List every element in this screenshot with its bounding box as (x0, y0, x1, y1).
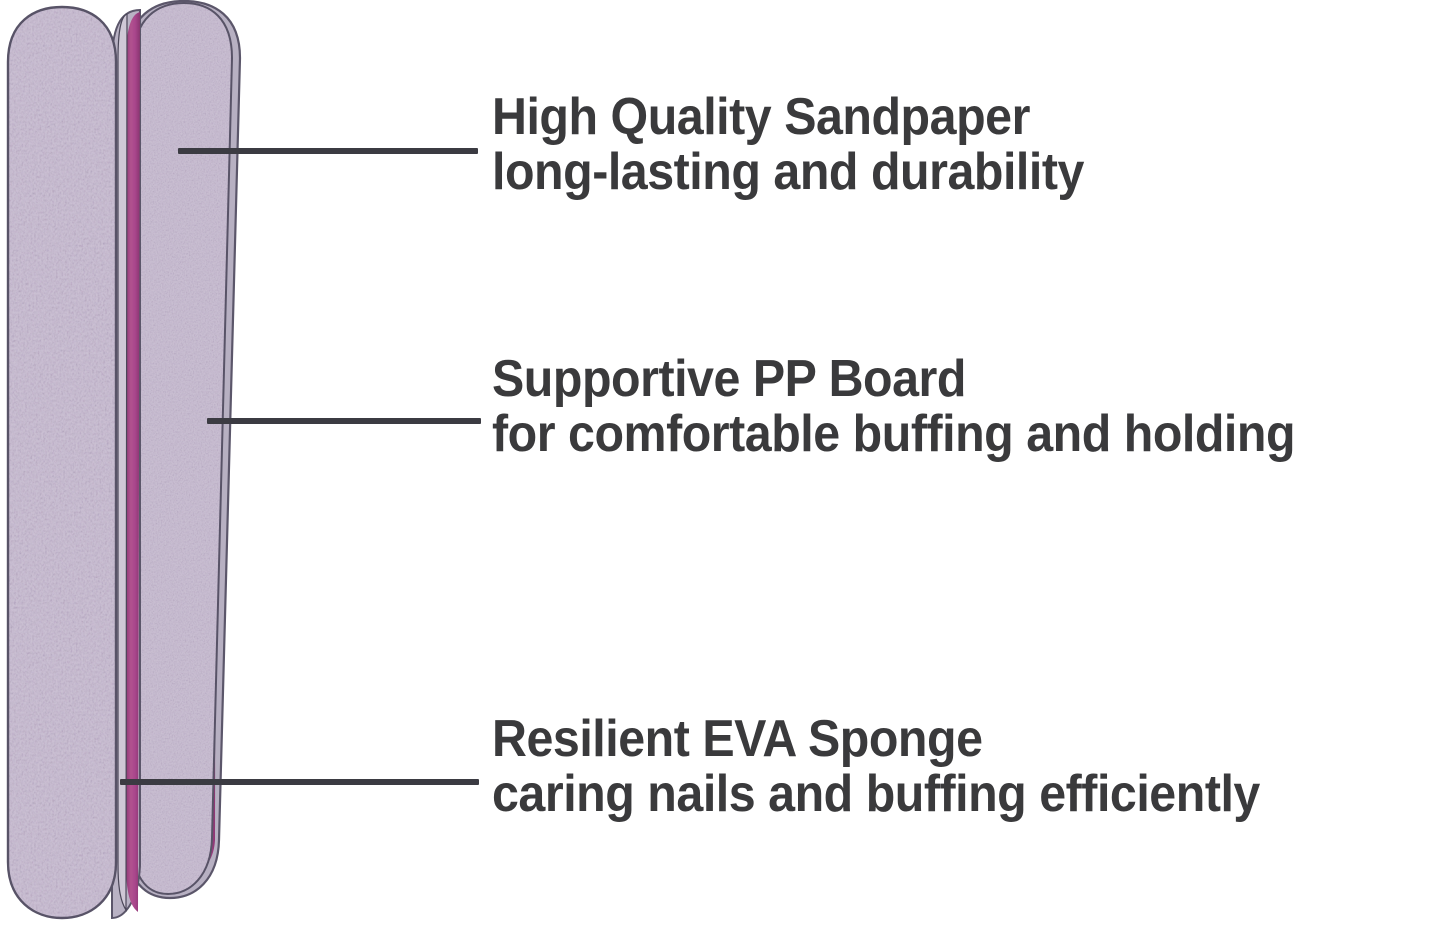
left-file-eva-stripe (126, 12, 140, 912)
callout-pp-board-title: Supportive PP Board (492, 352, 1295, 407)
leader-line-eva-sponge (120, 779, 479, 785)
leader-line-sandpaper (178, 148, 478, 154)
nail-file-left (0, 0, 140, 932)
callout-pp-board-subtitle: for comfortable buffing and holding (492, 407, 1295, 462)
product-illustration (0, 0, 260, 932)
callout-eva-sponge: Resilient EVA Sponge caring nails and bu… (492, 712, 1260, 822)
callout-pp-board: Supportive PP Board for comfortable buff… (492, 352, 1295, 462)
callout-sandpaper-subtitle: long-lasting and durability (492, 145, 1084, 200)
callout-eva-sponge-subtitle: caring nails and buffing efficiently (492, 767, 1260, 822)
infographic-canvas: High Quality Sandpaper long-lasting and … (0, 0, 1454, 932)
callout-sandpaper: High Quality Sandpaper long-lasting and … (492, 90, 1084, 200)
callout-eva-sponge-title: Resilient EVA Sponge (492, 712, 1260, 767)
leader-line-pp-board (207, 418, 481, 424)
callout-sandpaper-title: High Quality Sandpaper (492, 90, 1084, 145)
nail-file-right (126, 0, 240, 932)
left-file-pp-layer (118, 14, 127, 910)
